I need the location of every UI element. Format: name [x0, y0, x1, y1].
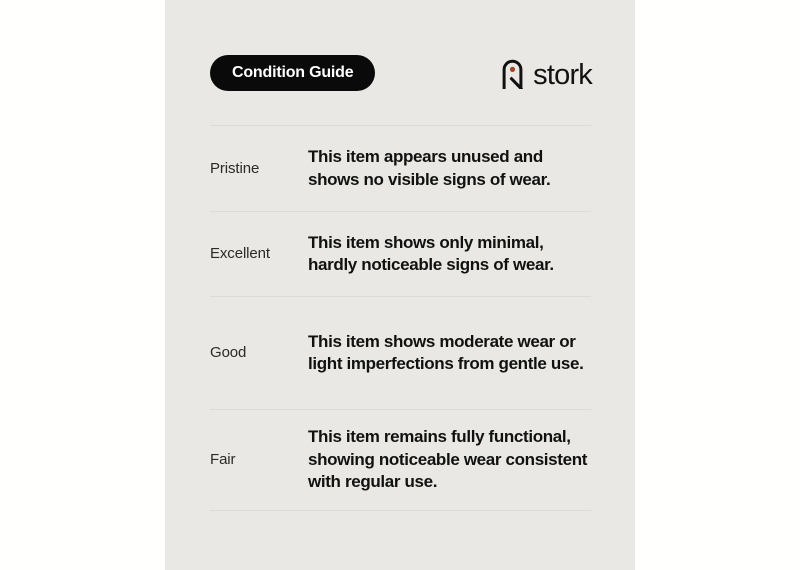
table-row: Pristine This item appears unused and sh… [210, 125, 591, 211]
table-row: Excellent This item shows only minimal, … [210, 211, 591, 296]
grade-description: This item appears unused and shows no vi… [308, 146, 591, 191]
grade-label: Good [210, 344, 308, 362]
grade-description: This item remains fully functional, show… [308, 426, 591, 493]
grade-label: Fair [210, 451, 308, 469]
table-row: Good This item shows moderate wear or li… [210, 296, 591, 409]
grade-description: This item shows only minimal, hardly not… [308, 232, 591, 277]
grade-label: Excellent [210, 245, 308, 263]
grade-label: Pristine [210, 160, 308, 178]
grade-description: This item shows moderate wear or light i… [308, 331, 591, 376]
table-row: Fair This item remains fully functional,… [210, 409, 591, 511]
page-root: Condition Guide stork Pristine This item… [0, 0, 800, 570]
brand-name: stork [533, 61, 592, 90]
condition-guide-badge: Condition Guide [210, 55, 375, 91]
condition-guide-table: Pristine This item appears unused and sh… [210, 125, 591, 511]
card-header: Condition Guide stork [210, 55, 591, 93]
stork-arch-logo-icon [501, 59, 524, 89]
brand-lockup: stork [501, 57, 592, 91]
condition-guide-card: Condition Guide stork Pristine This item… [165, 0, 635, 570]
